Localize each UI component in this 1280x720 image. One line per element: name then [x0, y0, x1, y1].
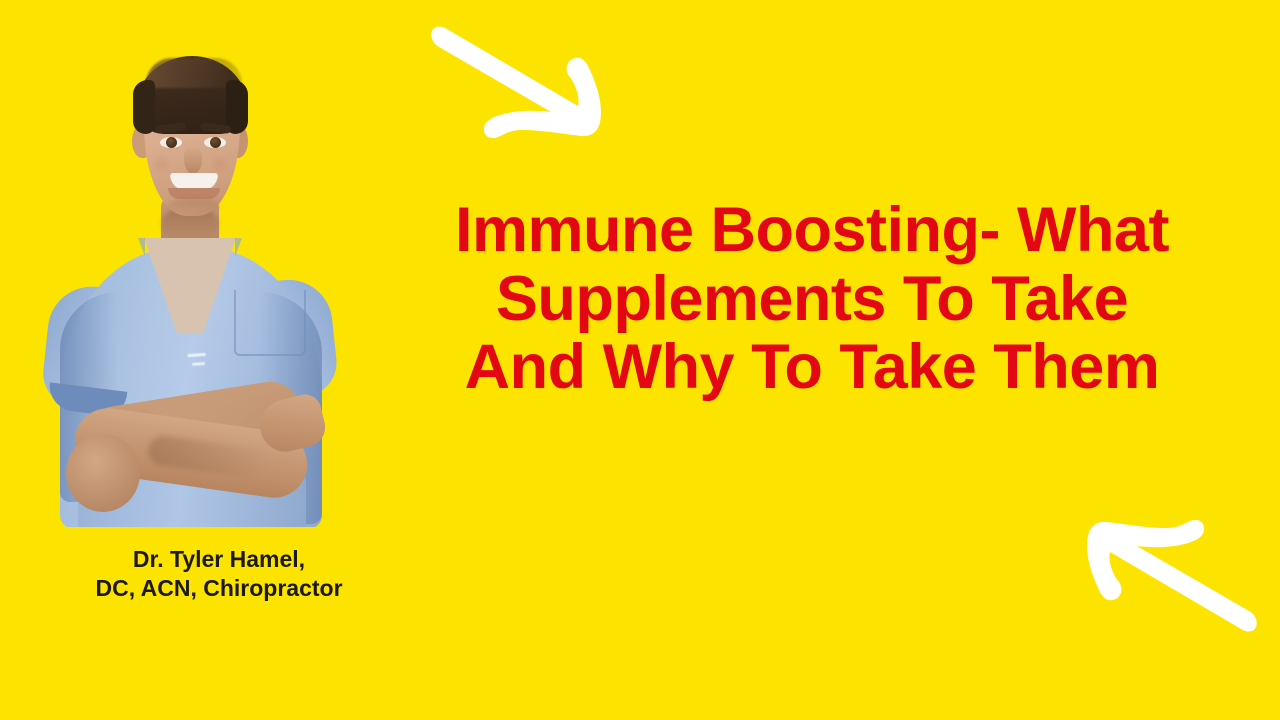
presenter-photo [38, 42, 338, 527]
hand-drawn-arrow-up-left-icon [1072, 516, 1260, 636]
hair-side-left [133, 80, 155, 134]
hand-drawn-arrow-down-right-icon [428, 22, 616, 142]
presenter-caption: Dr. Tyler Hamel, DC, ACN, Chiropractor [36, 545, 402, 603]
elbow-left [66, 434, 140, 512]
page-title: Immune Boosting- What Supplements To Tak… [372, 196, 1252, 402]
video-thumbnail: Immune Boosting- What Supplements To Tak… [0, 0, 1280, 720]
nose [184, 146, 202, 174]
chin-shadow [168, 198, 220, 214]
cheek-left [150, 154, 174, 174]
iris-left [166, 137, 177, 148]
scrub-embroidery [187, 346, 251, 374]
iris-right [210, 137, 221, 148]
cheek-right [208, 154, 232, 174]
portrait-illustration [38, 42, 338, 527]
